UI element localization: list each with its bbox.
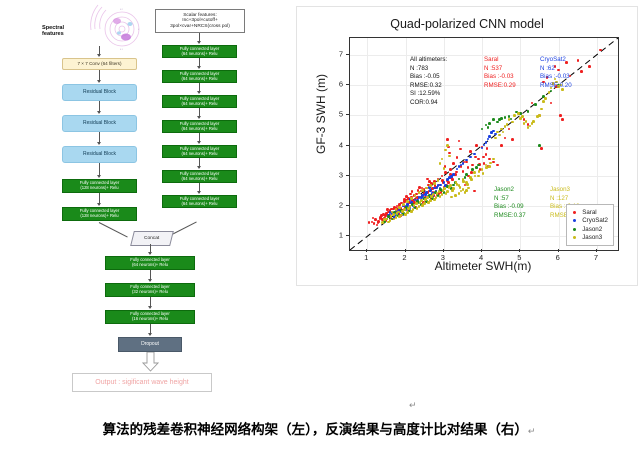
data-point-saral (409, 193, 412, 196)
data-point-jason3 (439, 195, 442, 198)
data-point-saral (462, 170, 465, 173)
legend-label: Jason2 (582, 226, 602, 233)
chart-legend[interactable]: SaralCryoSat2Jason2Jason3 (566, 204, 614, 246)
data-point-saral (469, 150, 472, 153)
x-tick-label: 2 (402, 253, 406, 262)
x-tick-label: 5 (517, 253, 521, 262)
legend-marker-icon (573, 219, 576, 222)
data-point-jason3 (478, 170, 481, 173)
x-tick-label: 1 (364, 253, 368, 262)
right-fc-3: Fully connected layer (64 neurons)+ Relu (162, 95, 237, 108)
data-point-jason3 (425, 187, 428, 190)
data-point-jason3 (473, 171, 476, 174)
y-tick-mark (346, 235, 349, 236)
data-point-saral (485, 153, 488, 156)
data-point-saral (475, 144, 478, 147)
plot-area: All altimeters: N :783 Bias :-0.05 RMSE:… (349, 37, 619, 251)
x-tick-mark (596, 249, 597, 252)
left-fc-1: Fully connected layer (128 neurons)+ Rel… (62, 179, 137, 193)
y-tick-mark (346, 114, 349, 115)
data-point-cryosat2 (473, 153, 476, 156)
svg-text:0.2: 0.2 (120, 9, 124, 11)
data-point-jason2 (475, 166, 478, 169)
data-point-jason3 (430, 195, 433, 198)
data-point-jason3 (506, 123, 509, 126)
spectral-features-image: 0.200.1 (86, 4, 148, 54)
data-point-jason2 (538, 144, 541, 147)
residual-block-2: Residual Block (62, 115, 137, 132)
arrow-head (97, 175, 101, 178)
data-point-jason3 (521, 115, 524, 118)
data-point-jason3 (442, 189, 445, 192)
legend-item-jason3[interactable]: Jason3 (570, 234, 608, 243)
concat-node: Concat (130, 231, 174, 246)
data-point-saral (467, 166, 470, 169)
data-point-jason2 (465, 173, 468, 176)
data-point-jason3 (443, 167, 446, 170)
data-point-jason3 (410, 210, 413, 213)
data-point-cryosat2 (492, 130, 495, 133)
data-point-jason3 (459, 186, 462, 189)
data-point-saral (449, 168, 452, 171)
data-point-jason2 (452, 184, 455, 187)
data-point-jason2 (498, 118, 501, 121)
x-tick-label: 7 (594, 253, 598, 262)
arrow-head (197, 141, 201, 144)
data-point-jason3 (511, 121, 514, 124)
stats-all-altimeters: All altimeters: N :783 Bias :-0.05 RMSE:… (410, 56, 447, 107)
data-point-cryosat2 (452, 173, 455, 176)
data-point-jason3 (424, 198, 427, 201)
legend-item-jason2[interactable]: Jason2 (570, 225, 608, 234)
output-box: Output : sigificant wave height (72, 373, 212, 392)
data-point-jason3 (433, 198, 436, 201)
data-point-jason3 (451, 189, 454, 192)
right-fc-7: Fully connected layer (64 neurons)+ Relu (162, 195, 237, 208)
legend-marker-icon (573, 236, 576, 239)
arrow-head (197, 191, 201, 194)
data-point-jason3 (544, 97, 547, 100)
data-point-jason3 (421, 189, 424, 192)
residual-block-3: Residual Block (62, 146, 137, 163)
x-tick-mark (519, 249, 520, 252)
y-tick-mark (346, 175, 349, 176)
left-fc-2: Fully connected layer (128 neurons)+ Rel… (62, 207, 137, 221)
data-point-saral (540, 147, 543, 150)
data-point-jason3 (500, 128, 503, 131)
stats-saral: Saral N :537 Bias :-0.03 RMSE:0.29 (484, 56, 516, 90)
scatter-chart-panel: Quad-polarized CNN model GF-3 SWH (m) Al… (296, 6, 638, 286)
scalar-features-box: Scalar features: Inc+3pol×cutoff+ 3pol×c… (155, 9, 245, 33)
concat-connector-left (99, 222, 128, 237)
data-point-jason3 (465, 189, 468, 192)
x-tick-mark (481, 249, 482, 252)
y-tick-label: 6 (331, 79, 343, 88)
cnn-architecture-diagram: 0.200.1 Spectral features 7 × 7 Conv (64… (0, 0, 296, 400)
data-point-jason3 (427, 201, 430, 204)
data-point-jason3 (398, 206, 401, 209)
y-tick-label: 4 (331, 140, 343, 149)
data-point-jason3 (467, 187, 470, 190)
arrow-head (97, 203, 101, 206)
data-point-jason3 (383, 218, 386, 221)
arrow-head (197, 66, 201, 69)
data-point-jason2 (487, 126, 490, 129)
data-point-saral (580, 70, 583, 73)
spectral-features-label: Spectral features (42, 25, 64, 38)
data-point-saral (426, 178, 429, 181)
x-tick-mark (366, 249, 367, 252)
data-point-jason3 (410, 197, 413, 200)
right-fc-4: Fully connected layer (64 neurons)+ Relu (162, 120, 237, 133)
data-point-jason3 (454, 194, 457, 197)
data-point-saral (405, 195, 408, 198)
caption-text: 算法的残差卷积神经网络构架（左），反演结果与高度计比对结果（右） (103, 422, 528, 437)
legend-item-saral[interactable]: Saral (570, 208, 608, 217)
data-point-jason3 (441, 193, 444, 196)
x-tick-label: 6 (556, 253, 560, 262)
x-tick-label: 4 (479, 253, 483, 262)
y-tick-label: 5 (331, 110, 343, 119)
figure-caption: 算法的残差卷积神经网络构架（左），反演结果与高度计比对结果（右）↵ (0, 418, 638, 438)
data-point-saral (511, 138, 514, 141)
legend-label: Saral (582, 209, 596, 216)
right-fc-1: Fully connected layer (64 neurons)+ Relu (162, 45, 237, 58)
data-point-saral (577, 59, 580, 62)
arrow-head (97, 142, 101, 145)
legend-label: CryoSat2 (582, 217, 608, 224)
data-point-saral (500, 144, 503, 147)
data-point-saral (428, 180, 431, 183)
tail-fc-16: Fully connected layer (16 neurons)+ Relu (105, 310, 195, 324)
legend-item-cryosat2[interactable]: CryoSat2 (570, 217, 608, 226)
data-point-saral (561, 118, 564, 121)
tail-fc-32: Fully connected layer (32 neurons)+ Relu (105, 283, 195, 297)
data-point-cryosat2 (448, 176, 451, 179)
data-point-jason3 (513, 114, 516, 117)
x-tick-mark (443, 249, 444, 252)
arrow-head (197, 166, 201, 169)
data-point-cryosat2 (485, 141, 488, 144)
data-point-jason2 (534, 103, 537, 106)
svg-text:0: 0 (138, 29, 140, 31)
conv-box: 7 × 7 Conv (64 filters) (62, 58, 137, 70)
y-tick-label: 1 (331, 231, 343, 240)
data-point-jason3 (496, 131, 499, 134)
data-point-jason3 (387, 221, 390, 224)
arrow-head (97, 111, 101, 114)
arrow-head (148, 306, 152, 309)
arrow-head (197, 91, 201, 94)
data-point-jason3 (462, 180, 465, 183)
data-point-saral (482, 156, 485, 159)
data-point-jason3 (517, 112, 520, 115)
residual-block-1: Residual Block (62, 84, 137, 101)
arrow-head (148, 252, 152, 255)
data-point-saral (452, 162, 455, 165)
legend-label: Jason3 (582, 234, 602, 241)
y-tick-mark (346, 145, 349, 146)
data-point-saral (418, 186, 421, 189)
legend-marker-icon (573, 228, 576, 231)
data-point-jason3 (532, 120, 535, 123)
right-fc-2: Fully connected layer (64 neurons)+ Relu (162, 70, 237, 83)
data-point-jason3 (531, 122, 534, 125)
data-point-jason3 (466, 183, 469, 186)
data-point-jason3 (536, 115, 539, 118)
data-point-saral (588, 65, 591, 68)
x-tick-label: 3 (441, 253, 445, 262)
y-tick-mark (346, 84, 349, 85)
data-point-saral (446, 138, 449, 141)
data-point-jason3 (436, 192, 439, 195)
tail-fc-64: Fully connected layer (64 neurons)+ Relu (105, 256, 195, 270)
data-point-jason3 (402, 203, 405, 206)
concat-label: Concat (144, 236, 159, 241)
data-point-saral (559, 114, 562, 117)
data-point-jason3 (404, 213, 407, 216)
data-point-jason3 (418, 191, 421, 194)
data-point-jason3 (416, 207, 419, 210)
data-point-jason3 (477, 175, 480, 178)
data-point-jason3 (542, 100, 545, 103)
data-point-jason3 (381, 221, 384, 224)
legend-marker-icon (573, 211, 576, 214)
data-point-jason3 (413, 204, 416, 207)
stats-jason2: Jason2 N :57 Bias :-0.09 RMSE:0.37 (494, 186, 526, 220)
data-point-jason3 (421, 204, 424, 207)
y-tick-label: 7 (331, 49, 343, 58)
right-fc-5: Fully connected layer (64 neurons)+ Relu (162, 145, 237, 158)
stats-cryosat2: CryoSat2 N :62 Bias :-0.03 RMSE:0.20 (540, 56, 572, 90)
x-tick-mark (405, 249, 406, 252)
y-axis-label: GF-3 SWH (m) (314, 34, 328, 194)
data-point-jason3 (433, 182, 436, 185)
data-point-saral (473, 190, 476, 193)
dropout-box: Dropout (118, 337, 182, 352)
y-tick-label: 2 (331, 201, 343, 210)
arrow-head (148, 279, 152, 282)
data-point-cryosat2 (436, 186, 439, 189)
y-tick-mark (346, 205, 349, 206)
arrow-head (197, 116, 201, 119)
x-tick-mark (558, 249, 559, 252)
arrow-head (148, 333, 152, 336)
block-arrow-icon (142, 352, 159, 372)
arrow-head (97, 54, 101, 57)
arrow-head (97, 80, 101, 83)
data-point-jason3 (437, 179, 440, 182)
data-point-jason2 (492, 118, 495, 121)
data-point-jason3 (494, 137, 497, 140)
arrow-head (197, 41, 201, 44)
paragraph-mark: ↵ (528, 426, 536, 436)
y-tick-mark (346, 54, 349, 55)
data-point-cryosat2 (488, 135, 491, 138)
y-tick-label: 3 (331, 170, 343, 179)
data-point-jason3 (406, 200, 409, 203)
paragraph-mark: ↵ (409, 400, 417, 411)
data-point-jason3 (470, 178, 473, 181)
data-point-jason3 (498, 134, 501, 137)
chart-title: Quad-polarized CNN model (297, 17, 637, 31)
right-fc-6: Fully connected layer (64 neurons)+ Relu (162, 170, 237, 183)
data-point-jason3 (482, 172, 485, 175)
data-point-jason3 (395, 216, 398, 219)
data-point-jason3 (446, 144, 449, 147)
svg-text:0.1: 0.1 (120, 49, 124, 51)
data-point-jason3 (429, 184, 432, 187)
data-point-jason3 (485, 166, 488, 169)
